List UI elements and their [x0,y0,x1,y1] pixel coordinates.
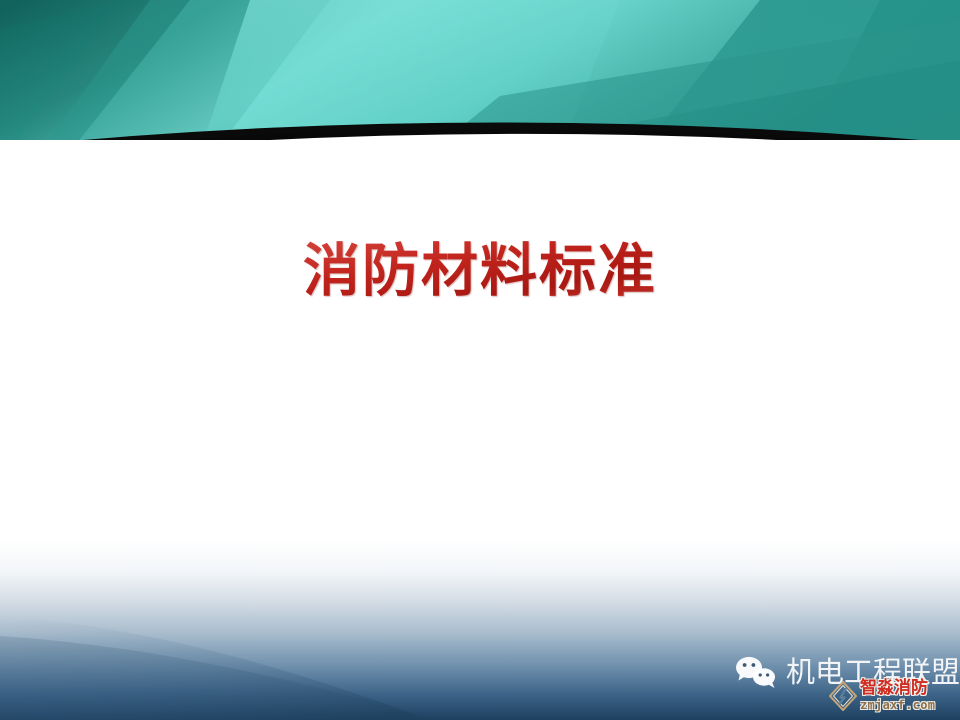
slide-header-banner [0,0,960,152]
slide-body [0,140,960,580]
brand-name: 智淼消防 [860,680,935,697]
page-title: 消防材料标准 [303,240,657,302]
brand-badge-texts: 智淼消防 zmjaxf.com [860,680,935,711]
wechat-icon [735,655,777,689]
watermark: 机电工程联盟 智淼消防 zmjaxf.com [735,655,960,720]
brand-url: zmjaxf.com [860,699,935,711]
presentation-slide: 消防材料标准 [0,0,960,720]
title-block: 消防材料标准 [0,240,960,302]
zhimiao-diamond-logo-icon [829,681,857,711]
brand-badge: 智淼消防 zmjaxf.com [829,680,935,711]
